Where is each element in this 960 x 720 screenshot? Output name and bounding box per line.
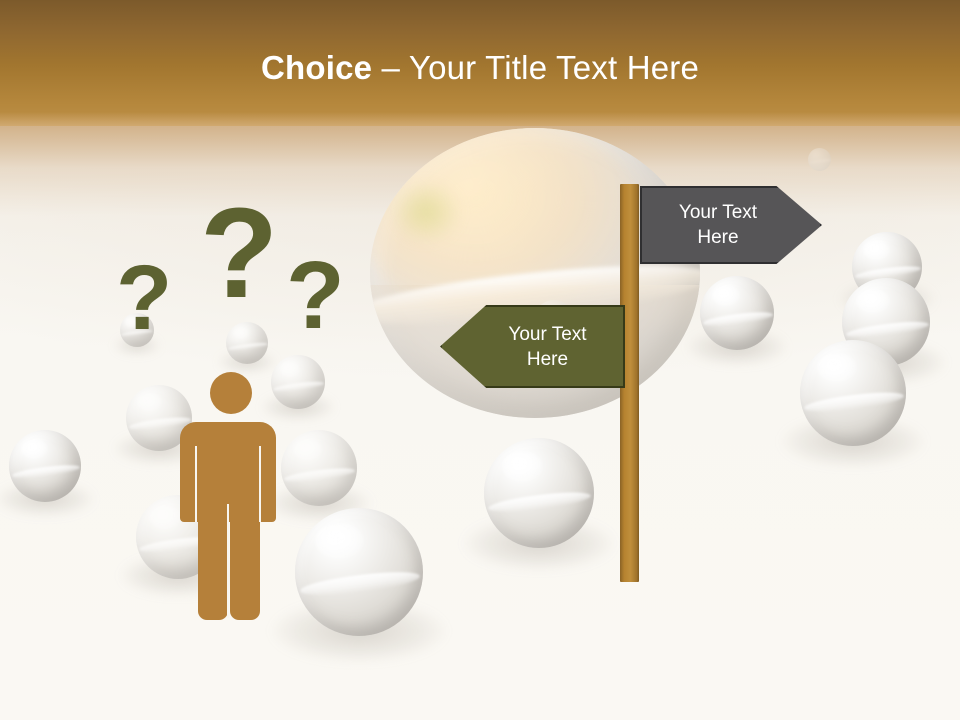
sign-left-text-block: Your Text Here	[508, 322, 586, 372]
page-title: Choice – Your Title Text Here	[0, 48, 960, 88]
slide-canvas: ??? Your Text Here Your Text Here Choice…	[0, 0, 960, 720]
person-leg-gap	[227, 504, 229, 618]
page-title-rest: – Your Title Text Here	[372, 49, 699, 86]
question-mark-icon: ?	[200, 190, 278, 318]
person-right-arm-gap	[259, 446, 261, 522]
sign-left-line1: Your Text	[508, 322, 586, 347]
sign-right-line1: Your Text	[679, 200, 757, 225]
sign-right-text-block: Your Text Here	[679, 200, 757, 250]
sign-left-line2: Here	[508, 347, 586, 372]
person-right-leg-icon	[230, 500, 260, 620]
decorative-sphere	[295, 508, 423, 636]
decorative-sphere	[800, 340, 906, 446]
page-title-emphasis: Choice	[261, 49, 372, 86]
large-sphere-green-tint	[390, 180, 463, 244]
decorative-sphere	[226, 322, 268, 364]
sign-right-line2: Here	[679, 225, 757, 250]
person-left-arm-gap	[195, 446, 197, 522]
title-bar: Choice – Your Title Text Here	[0, 0, 960, 126]
question-mark-icon: ?	[286, 248, 345, 344]
decorative-sphere	[271, 355, 325, 409]
person-head-icon	[210, 372, 252, 414]
decorative-sphere	[484, 438, 594, 548]
title-bar-sheen	[0, 112, 960, 126]
person-left-leg-icon	[198, 500, 228, 620]
decorative-sphere	[281, 430, 357, 506]
person-pictogram	[180, 372, 276, 620]
decorative-sphere	[9, 430, 81, 502]
question-mark-icon: ?	[116, 252, 172, 344]
decorative-sphere	[700, 276, 774, 350]
decorative-sphere	[808, 148, 831, 171]
